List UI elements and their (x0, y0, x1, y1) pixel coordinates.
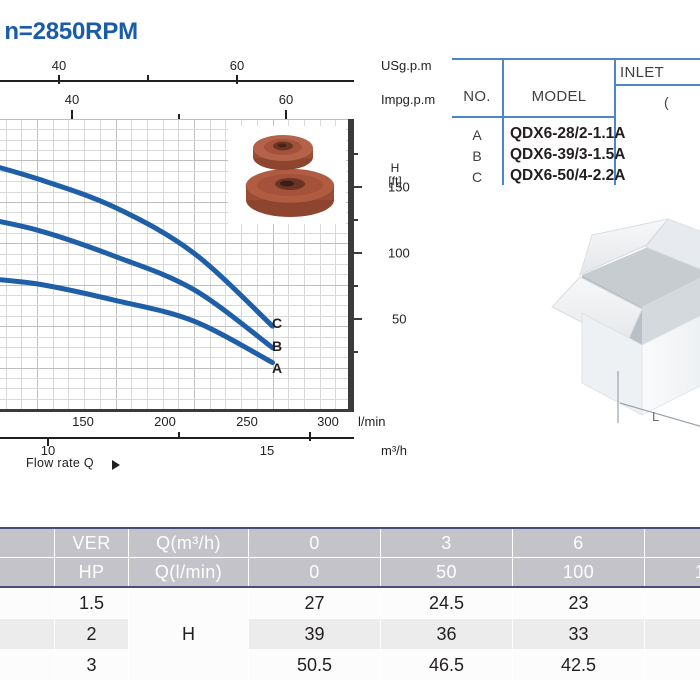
perf-row-pad (0, 587, 55, 619)
model-table-border-top (452, 58, 700, 60)
perf-table-row: 3 50.5 46.5 42.5 37 (0, 650, 700, 681)
axis-lmin-label-250: 250 (236, 414, 258, 429)
perf-header-l0: 0 (249, 558, 381, 588)
perf-row-value: 20 (645, 587, 700, 619)
perf-header-l50: 50 (381, 558, 513, 588)
axis-h-tick-100 (351, 252, 362, 254)
axis-h-unit-h: H (391, 161, 400, 175)
page-title: T AT n=2850RPM (0, 18, 348, 46)
curve-label-b: B (272, 338, 282, 354)
flow-rate-caption: Flow rate Q (26, 456, 94, 470)
axis-impgpm-tick-40 (71, 110, 73, 119)
axis-h-unit-ft: [ft] (388, 174, 401, 188)
model-table-row-no: A (457, 127, 497, 143)
carton-dimension-label-l: L (652, 409, 659, 424)
perf-row-value: 23 (513, 587, 645, 619)
perf-table-header-row-2: HP Q(l/min) 0 50 100 150 (0, 558, 700, 588)
model-table-header-model: MODEL (504, 88, 614, 105)
axis-usgpm-tick-60 (236, 75, 238, 84)
axis-impgpm-tick-60 (285, 110, 287, 119)
model-table: NO. MODEL INLET ( A QDX6-28/2-1.1A B QDX… (452, 58, 700, 198)
axis-m3h-label-15: 15 (260, 443, 274, 458)
curve-label-c: C (272, 315, 282, 331)
perf-row-value: 33 (513, 619, 645, 650)
perf-header-l100: 100 (513, 558, 645, 588)
axis-usgpm-label-40: 40 (52, 58, 66, 73)
perf-row-value: 42.5 (513, 650, 645, 681)
perf-header-q3: 3 (381, 528, 513, 558)
curve-label-a: A (272, 360, 282, 376)
axis-usgpm-label-60: 60 (230, 58, 244, 73)
axis-unit-m3h: m³/h (381, 443, 407, 458)
axis-usgpm-tick-40 (58, 75, 60, 84)
model-table-row-model: QDX6-50/4-2.2A (510, 167, 625, 185)
model-table-header-inlet: INLET (620, 64, 700, 81)
model-table-header-no: NO. (452, 88, 502, 105)
model-table-border-v1 (502, 58, 504, 185)
carton-illustration (470, 215, 700, 445)
axis-impgpm-label-40: 40 (65, 92, 79, 107)
perf-header-hp: HP (55, 558, 129, 588)
perf-header-power-text: VER (55, 528, 129, 558)
curve-a (0, 262, 273, 362)
perf-table-header-row-1: VER Q(m³/h) 0 3 6 9 (0, 528, 700, 558)
axis-h-tick-minor (351, 285, 358, 287)
perf-row-value: 36 (381, 619, 513, 650)
model-table-row-model: QDX6-28/2-1.1A (510, 125, 625, 143)
axis-h-tick-minor (351, 351, 358, 353)
axis-h-unit: H [ft] (375, 162, 415, 188)
axis-impgpm-label-60: 60 (279, 92, 293, 107)
axis-h-tick-minor (351, 153, 358, 155)
perf-row-value: 46.5 (381, 650, 513, 681)
model-table-border-v2 (614, 58, 616, 185)
axis-h-label-50: 50 (392, 312, 406, 327)
perf-header-q-m3h: Q(m³/h) (129, 528, 249, 558)
performance-chart: 40 60 USg.p.m 40 60 Impg.p.m C B A (0, 56, 440, 486)
axis-usgpm-tick-minor (147, 75, 149, 80)
model-table-row-no: C (457, 169, 497, 185)
axis-usgpm-line (0, 80, 354, 82)
perf-row-value: 37 (645, 650, 700, 681)
axis-lmin-label-300: 300 (317, 414, 339, 429)
axis-lmin-label-200: 200 (154, 414, 176, 429)
perf-header-q6: 6 (513, 528, 645, 558)
flow-direction-arrow-icon (112, 460, 120, 470)
perf-row-value: 50.5 (249, 650, 381, 681)
model-table-header-inlet-sub: ( (664, 94, 669, 110)
axis-lmin-label-150: 150 (72, 414, 94, 429)
axis-h-tick-minor (351, 219, 358, 221)
perf-header-power (0, 528, 55, 558)
axis-unit-usgpm: USg.p.m (381, 58, 432, 73)
plot-bottom-border (0, 409, 354, 412)
model-table-border-headrule (452, 116, 614, 118)
perf-row-value: 24.5 (381, 587, 513, 619)
perf-row-value: 39 (249, 619, 381, 650)
perf-row-value: 28 (645, 619, 700, 650)
axis-m3h-line (0, 437, 354, 439)
perf-table-row: 1.5 H 27 24.5 23 20 (0, 587, 700, 619)
axis-h-label-100: 100 (388, 246, 410, 261)
perf-header-blank (0, 558, 55, 588)
performance-table: VER Q(m³/h) 0 3 6 9 HP Q(l/min) 0 50 100… (0, 527, 700, 681)
impeller-photo (228, 126, 346, 224)
model-table-row-model: QDX6-39/3-1.5A (510, 146, 625, 164)
axis-h-line (351, 119, 354, 412)
perf-row-hp: 3 (55, 650, 129, 681)
axis-m3h-tick-15 (309, 432, 311, 441)
perf-table-row: 2 39 36 33 28 (0, 619, 700, 650)
axis-h-tick-150 (351, 186, 362, 188)
perf-row-h-label: H (129, 587, 249, 681)
axis-unit-lmin: l/min (358, 414, 385, 429)
perf-row-pad (0, 619, 55, 650)
perf-row-hp: 2 (55, 619, 129, 650)
perf-row-pad (0, 650, 55, 681)
perf-header-l150: 150 (645, 558, 700, 588)
model-table-row-no: B (457, 148, 497, 164)
axis-h-tick-50 (351, 318, 362, 320)
model-table-border-inlet-sub (614, 84, 700, 86)
axis-m3h-tick-minor (178, 432, 180, 437)
perf-header-q0: 0 (249, 528, 381, 558)
perf-header-q9: 9 (645, 528, 700, 558)
perf-row-value: 27 (249, 587, 381, 619)
perf-row-hp: 1.5 (55, 587, 129, 619)
axis-unit-impgpm: Impg.p.m (381, 92, 435, 107)
perf-header-q-lmin: Q(l/min) (129, 558, 249, 588)
